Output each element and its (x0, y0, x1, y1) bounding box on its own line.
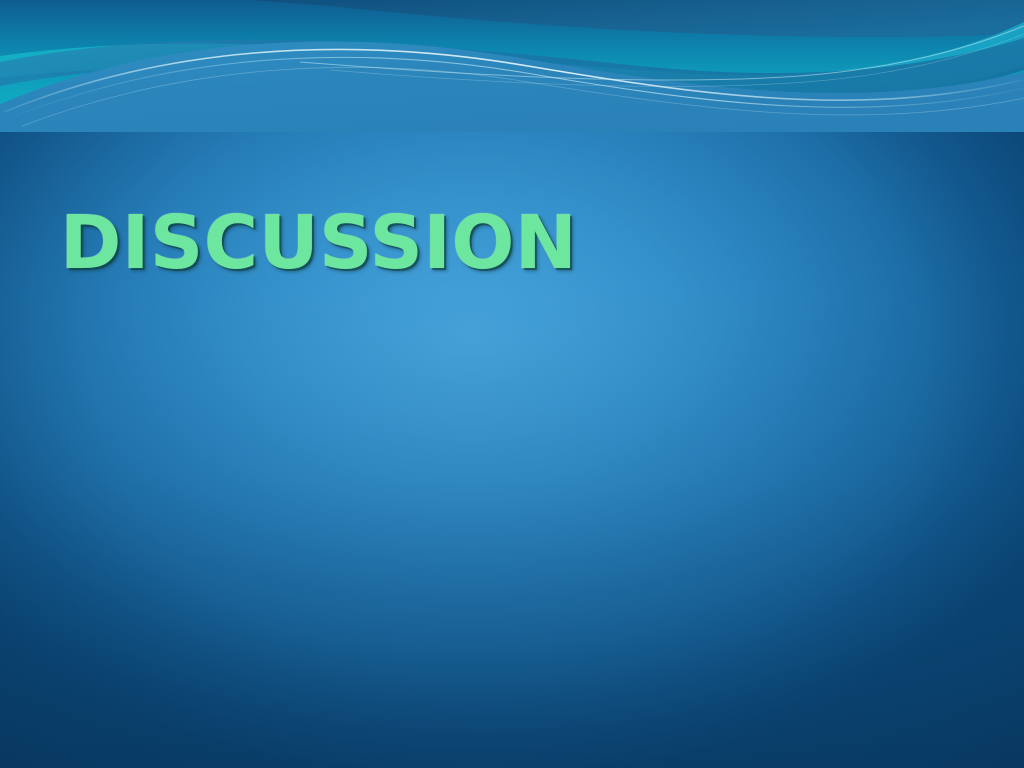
presentation-slide: DISCUSSION (0, 0, 1024, 768)
top-wave-decoration (0, 0, 1024, 132)
page-title: DISCUSSION (60, 206, 960, 280)
title-placeholder: DISCUSSION (60, 206, 960, 306)
